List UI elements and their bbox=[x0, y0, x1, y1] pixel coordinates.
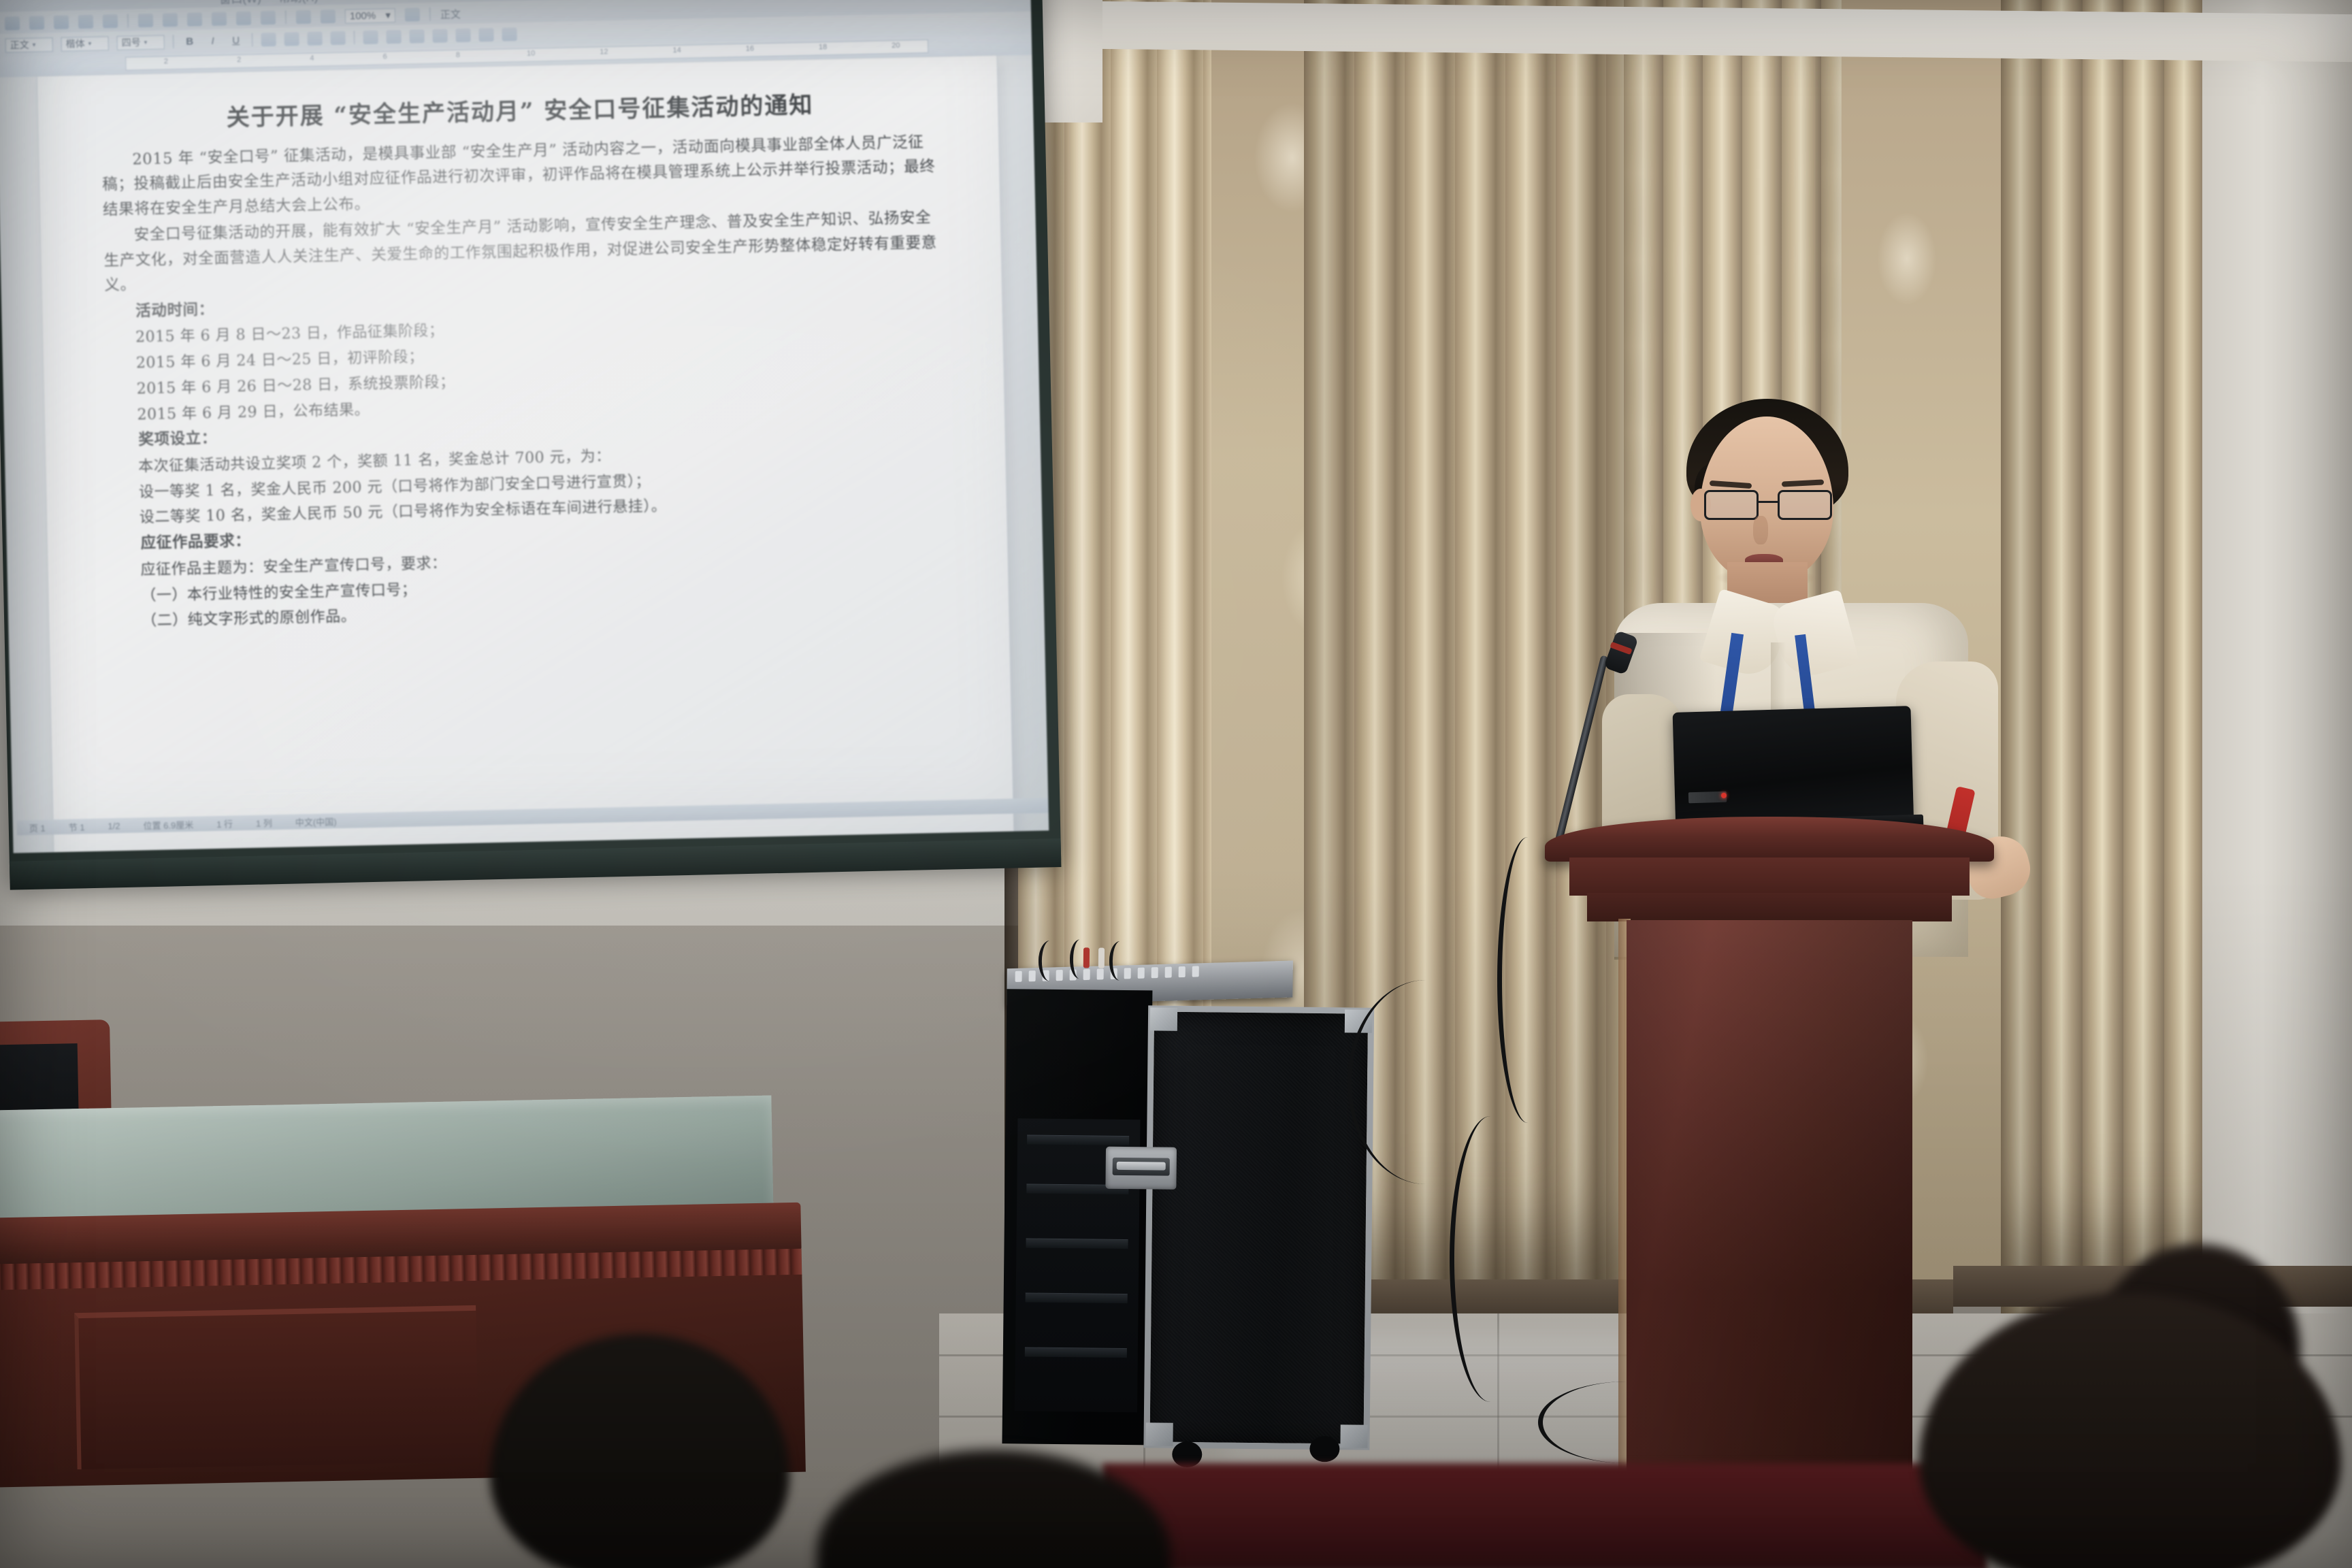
style-combo[interactable]: 正文 ▾ bbox=[5, 37, 52, 53]
status-section: 节 1 bbox=[68, 820, 84, 834]
ruler-tick: 18 bbox=[786, 42, 860, 52]
toolbar-separator bbox=[127, 14, 129, 28]
presenter-nose bbox=[1753, 516, 1768, 544]
style-combo-value: 正文 bbox=[10, 38, 29, 52]
chevron-down-icon[interactable]: ▾ bbox=[144, 38, 148, 46]
toolbar-separator bbox=[285, 11, 287, 24]
thinkpad-logo bbox=[1688, 791, 1727, 804]
eyeglasses bbox=[1704, 490, 1832, 521]
font-name-value: 楷体 bbox=[65, 37, 84, 51]
read-mode-label[interactable]: 正文 bbox=[440, 6, 461, 21]
signal-cable bbox=[1347, 980, 1504, 1184]
status-page: 页 1 bbox=[29, 821, 46, 834]
toolbar-separator bbox=[251, 33, 252, 47]
power-cable bbox=[1497, 837, 1558, 1123]
font-color-icon[interactable] bbox=[502, 27, 517, 41]
decrease-indent-icon[interactable] bbox=[409, 29, 424, 43]
word-document-page[interactable]: 关于开展 “安全生产活动月” 安全口号征集活动的通知 2015 年 “安全口号”… bbox=[37, 56, 1014, 853]
align-right-icon[interactable] bbox=[307, 31, 322, 45]
projection-screen: 窗口(W) 帮助(H) 100% bbox=[0, 0, 1071, 890]
spellcheck-icon[interactable] bbox=[138, 14, 153, 27]
font-size-combo[interactable]: 四号 ▾ bbox=[116, 35, 164, 50]
podium-lip bbox=[1569, 857, 1970, 896]
status-column: 1 列 bbox=[256, 816, 272, 830]
font-size-value: 四号 bbox=[121, 35, 140, 50]
eyeglass-bridge bbox=[1759, 501, 1778, 503]
numbered-list-icon[interactable] bbox=[363, 31, 378, 44]
document-title: 关于开展 “安全生产活动月” 安全口号征集活动的通知 bbox=[101, 86, 940, 139]
desk-panel-inset bbox=[74, 1305, 478, 1469]
power-cable bbox=[1538, 1382, 1715, 1463]
eyeglass-lens-left bbox=[1704, 490, 1759, 520]
rack-corner-bracket bbox=[1340, 1424, 1367, 1448]
podium-top-surface bbox=[1545, 817, 1994, 862]
redo-icon[interactable] bbox=[261, 11, 276, 24]
align-justify-icon[interactable] bbox=[330, 31, 345, 45]
ruler-tick: 2 bbox=[202, 55, 276, 65]
wall-right-panel bbox=[2202, 0, 2352, 1334]
audience-table bbox=[1102, 1463, 1987, 1568]
toolbar-separator bbox=[353, 31, 355, 44]
ruler-tick: 6 bbox=[348, 52, 422, 61]
presentation-scene: 窗口(W) 帮助(H) 100% bbox=[0, 0, 2352, 1568]
rack-front-panel bbox=[1143, 1005, 1374, 1450]
chevron-down-icon[interactable]: ▾ bbox=[385, 9, 391, 21]
save-icon[interactable] bbox=[54, 16, 69, 29]
status-language: 中文(中国) bbox=[295, 815, 337, 828]
print-preview-icon[interactable] bbox=[103, 14, 118, 28]
laptop-lid bbox=[1673, 706, 1914, 827]
rack-open-side bbox=[1002, 989, 1152, 1445]
status-page-count: 1/2 bbox=[108, 821, 120, 831]
podium-lip-lower bbox=[1587, 893, 1952, 921]
print-icon[interactable] bbox=[78, 15, 93, 29]
cut-icon[interactable] bbox=[163, 13, 178, 27]
ruler-tick: 20 bbox=[860, 41, 933, 50]
menu-item-help[interactable]: 帮助(H) bbox=[278, 0, 318, 5]
ruler-tick: 8 bbox=[421, 50, 495, 60]
align-left-icon[interactable] bbox=[261, 33, 276, 46]
bullet-list-icon[interactable] bbox=[386, 30, 401, 44]
paste-icon[interactable] bbox=[212, 12, 227, 25]
presenter-laptop[interactable] bbox=[1673, 706, 1914, 835]
insert-table-icon[interactable] bbox=[321, 10, 336, 23]
av-equipment-rack bbox=[1002, 963, 1375, 1464]
ruler-tick: 12 bbox=[568, 47, 641, 56]
toolbar-separator bbox=[172, 35, 174, 48]
ruler-tick: 10 bbox=[494, 49, 568, 59]
bold-button[interactable]: B bbox=[182, 34, 197, 48]
borders-icon[interactable] bbox=[455, 29, 470, 42]
toolbar-separator bbox=[429, 7, 431, 21]
help-icon[interactable] bbox=[405, 7, 420, 21]
screen-surface: 窗口(W) 帮助(H) 100% bbox=[0, 0, 1049, 853]
rca-connector-white bbox=[1098, 948, 1105, 968]
ruler-tick: 2 bbox=[129, 56, 203, 66]
underline-button[interactable]: U bbox=[228, 33, 243, 47]
eyeglass-lens-right bbox=[1778, 490, 1832, 520]
rack-carry-handle[interactable] bbox=[1105, 1147, 1177, 1190]
menu-item-window[interactable]: 窗口(W) bbox=[219, 0, 261, 6]
new-doc-icon[interactable] bbox=[5, 16, 20, 30]
document-body: 关于开展 “安全生产活动月” 安全口号征集活动的通知 2015 年 “安全口号”… bbox=[37, 56, 1009, 637]
rack-caster-wheel bbox=[1309, 1436, 1339, 1462]
ruler-tick: 14 bbox=[640, 46, 714, 55]
chevron-down-icon[interactable]: ▾ bbox=[33, 41, 36, 48]
rack-corner-bracket bbox=[1150, 1007, 1177, 1030]
ruler-tick: 4 bbox=[276, 54, 349, 63]
ruler-tick: 16 bbox=[713, 44, 787, 54]
status-line: 1 行 bbox=[216, 817, 233, 830]
open-icon[interactable] bbox=[29, 16, 44, 29]
align-center-icon[interactable] bbox=[284, 32, 299, 46]
increase-indent-icon[interactable] bbox=[432, 29, 447, 42]
zoom-level-value: 100% bbox=[350, 10, 376, 22]
highlight-icon[interactable] bbox=[478, 28, 493, 42]
zoom-level-combo[interactable]: 100% ▾ bbox=[345, 8, 395, 24]
rack-corner-bracket bbox=[1145, 1422, 1173, 1445]
undo-icon[interactable] bbox=[236, 12, 251, 25]
italic-button[interactable]: I bbox=[205, 33, 220, 48]
copy-icon[interactable] bbox=[187, 12, 202, 26]
font-name-combo[interactable]: 楷体 ▾ bbox=[61, 36, 108, 52]
chevron-down-icon[interactable]: ▾ bbox=[88, 39, 92, 47]
insert-hyperlink-icon[interactable] bbox=[296, 10, 311, 24]
status-position: 位置 6.9厘米 bbox=[143, 817, 193, 832]
